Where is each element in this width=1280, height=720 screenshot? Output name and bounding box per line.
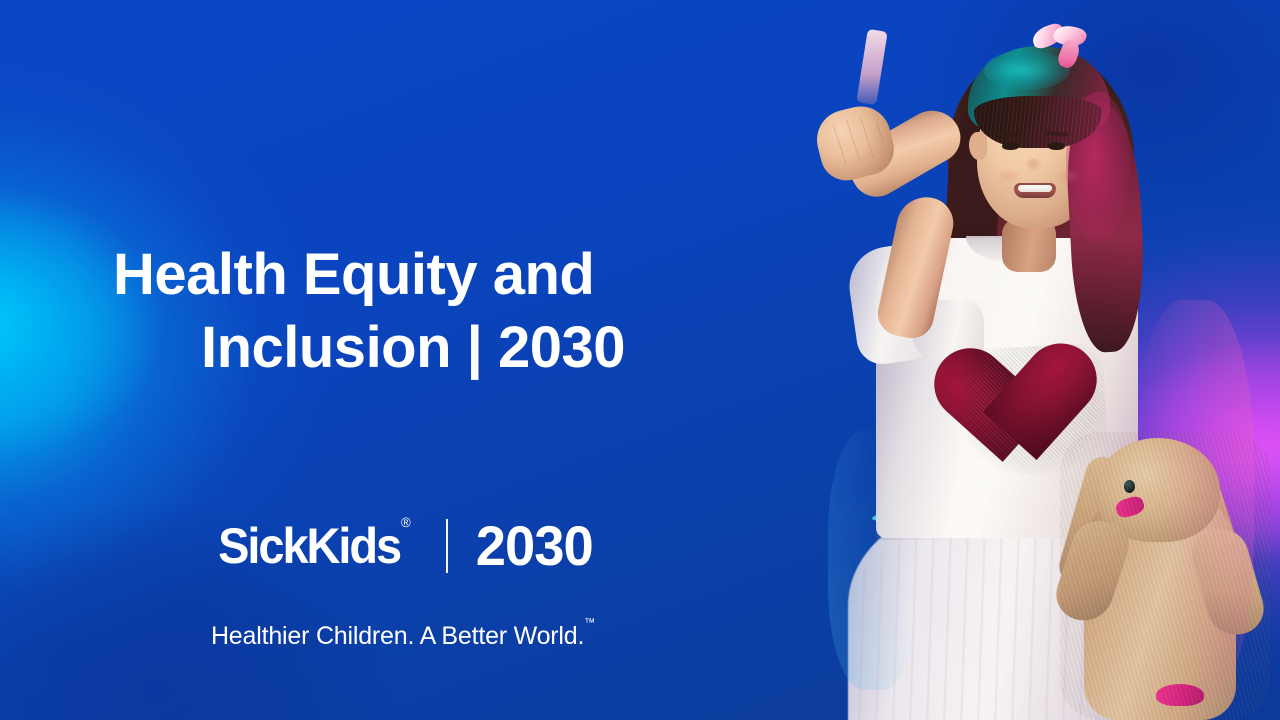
brand-divider (446, 519, 448, 573)
hero-photo (770, 0, 1280, 720)
eye-right (1048, 142, 1065, 150)
trademark-icon: ™ (584, 617, 595, 629)
cheek-right (1054, 168, 1080, 184)
sickkids-wordmark: SickKids® (218, 521, 410, 571)
plush-bunny (1060, 432, 1270, 720)
presentation-slide: Health Equity and Inclusion | 2030 SickK… (0, 0, 1280, 720)
registered-trademark-icon: ® (401, 514, 411, 530)
hero-photo-subject (770, 0, 1280, 720)
brand-year-2030: 2030 (475, 518, 592, 574)
hair-bow (1032, 24, 1090, 56)
hair-teal-highlight (984, 50, 1070, 90)
slide-title-line-1: Health Equity and (113, 238, 713, 311)
slide-title-line-2: Inclusion | 2030 (113, 311, 713, 384)
teeth (1018, 185, 1052, 192)
brand-lockup: SickKids® 2030 (113, 518, 693, 574)
sequin-flip-highlight (856, 29, 887, 105)
nose (1026, 158, 1042, 172)
brand-tagline: Healthier Children. A Better World.™ (113, 622, 693, 651)
bunny-bottom-bow (1156, 684, 1204, 706)
ear (969, 132, 987, 160)
slide-title: Health Equity and Inclusion | 2030 (113, 238, 713, 384)
brand-tagline-text: Healthier Children. A Better World. (211, 622, 584, 650)
cheek-left (996, 168, 1022, 184)
eye-left (1002, 142, 1019, 150)
sickkids-wordmark-text: SickKids (218, 518, 400, 574)
bunny-eye (1124, 480, 1135, 493)
